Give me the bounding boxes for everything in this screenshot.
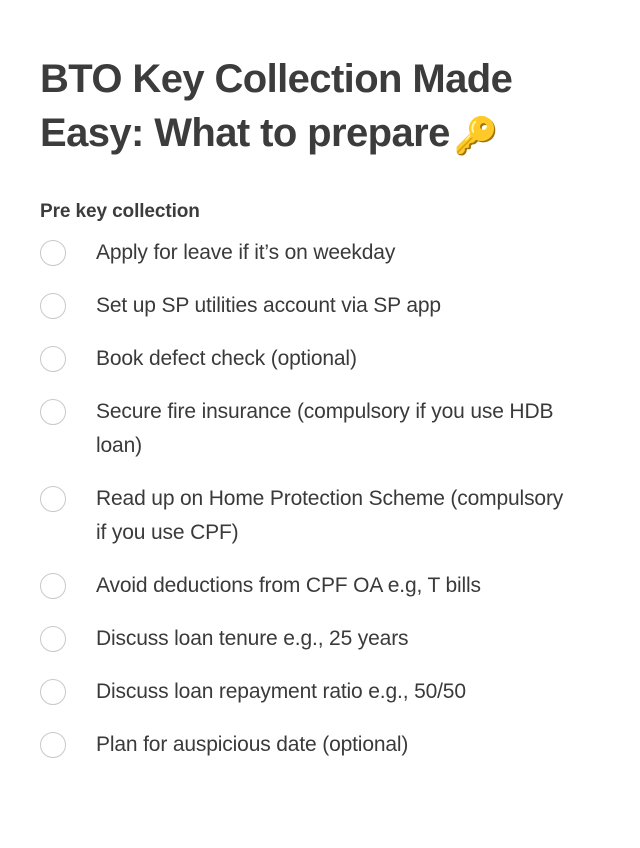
checkbox-icon[interactable] <box>40 626 66 652</box>
list-item[interactable]: Avoid deductions from CPF OA e.g, T bill… <box>40 569 600 603</box>
checkbox-icon[interactable] <box>40 732 66 758</box>
list-item-label: Book defect check (optional) <box>66 342 578 376</box>
pre-key-collection-checklist: Apply for leave if it’s on weekday Set u… <box>40 224 600 762</box>
list-item[interactable]: Discuss loan repayment ratio e.g., 50/50 <box>40 675 600 709</box>
list-item[interactable]: Set up SP utilities account via SP app <box>40 289 600 323</box>
page-title-line-2: Easy: What to prepare <box>40 111 450 155</box>
list-item-label: Read up on Home Protection Scheme (compu… <box>66 482 578 550</box>
checklist-page: BTO Key Collection Made Easy: What to pr… <box>0 0 640 848</box>
list-item-label: Secure fire insurance (compulsory if you… <box>66 395 578 463</box>
key-icon: 🔑 <box>454 118 498 154</box>
list-item-label: Discuss loan tenure e.g., 25 years <box>66 622 578 656</box>
list-item[interactable]: Apply for leave if it’s on weekday <box>40 236 600 270</box>
checkbox-icon[interactable] <box>40 240 66 266</box>
list-item-label: Avoid deductions from CPF OA e.g, T bill… <box>66 569 578 603</box>
list-item-label: Discuss loan repayment ratio e.g., 50/50 <box>66 675 578 709</box>
list-item[interactable]: Book defect check (optional) <box>40 342 600 376</box>
list-item-label: Apply for leave if it’s on weekday <box>66 236 578 270</box>
checkbox-icon[interactable] <box>40 573 66 599</box>
list-item-label: Plan for auspicious date (optional) <box>66 728 578 762</box>
page-title-line-1: BTO Key Collection Made <box>40 57 512 101</box>
section-heading: Pre key collection <box>40 160 600 224</box>
checkbox-icon[interactable] <box>40 293 66 319</box>
list-item[interactable]: Plan for auspicious date (optional) <box>40 728 600 762</box>
checkbox-icon[interactable] <box>40 346 66 372</box>
list-item[interactable]: Discuss loan tenure e.g., 25 years <box>40 622 600 656</box>
checkbox-icon[interactable] <box>40 486 66 512</box>
page-title: BTO Key Collection Made Easy: What to pr… <box>40 0 570 160</box>
checkbox-icon[interactable] <box>40 679 66 705</box>
list-item-label: Set up SP utilities account via SP app <box>66 289 578 323</box>
checkbox-icon[interactable] <box>40 399 66 425</box>
list-item[interactable]: Read up on Home Protection Scheme (compu… <box>40 482 600 550</box>
list-item[interactable]: Secure fire insurance (compulsory if you… <box>40 395 600 463</box>
